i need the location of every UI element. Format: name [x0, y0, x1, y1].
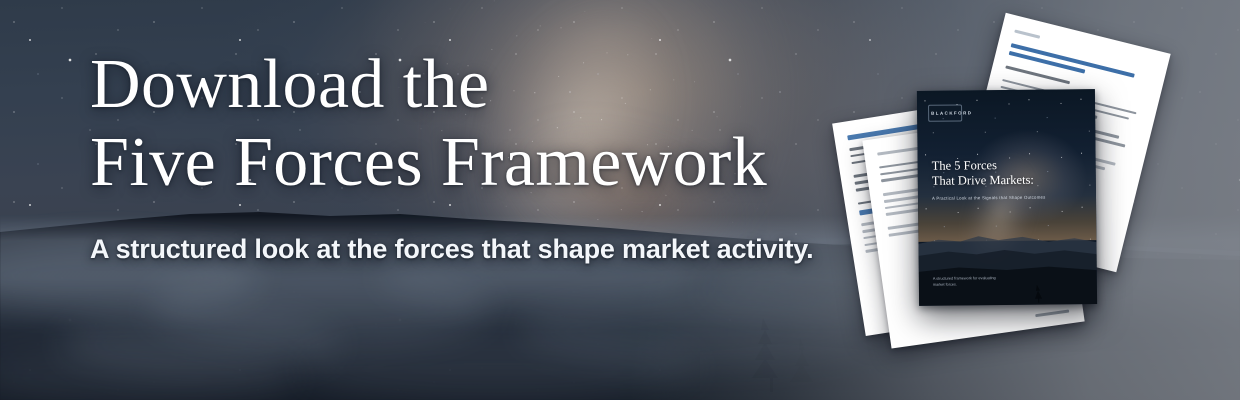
banner-copy: Download the Five Forces Framework A str…	[90, 46, 880, 265]
cover-title: The 5 Forces That Drive Markets:	[932, 157, 1084, 189]
document-stack: BLACKFORD The 5 Forces That Drive Market…	[840, 18, 1200, 358]
banner-subtitle: A structured look at the forces that sha…	[90, 234, 880, 265]
cover-logo: BLACKFORD	[931, 110, 972, 115]
ebook-cover: BLACKFORD The 5 Forces That Drive Market…	[917, 89, 1097, 306]
page-title: Download the Five Forces Framework	[90, 46, 880, 202]
cover-footer-text: A structured framework for evaluating ma…	[933, 274, 1069, 287]
promo-banner: Download the Five Forces Framework A str…	[0, 0, 1240, 400]
page-eyebrow-rule	[1014, 30, 1040, 39]
